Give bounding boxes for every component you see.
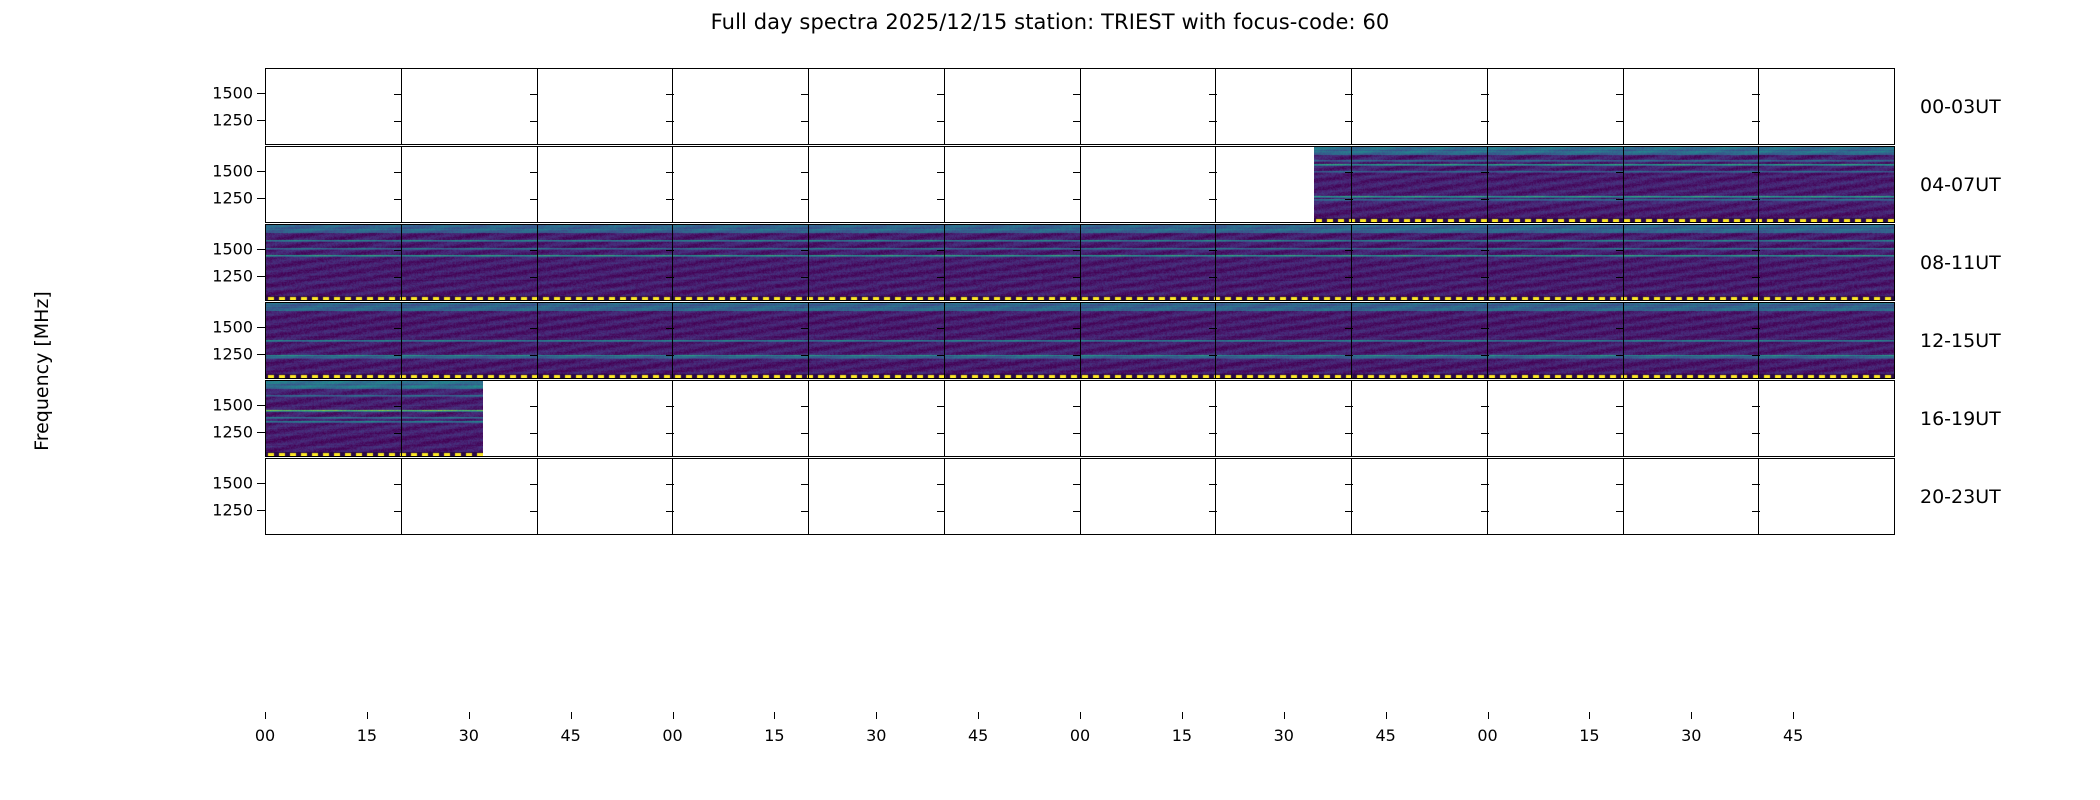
column-separators [266,69,1894,144]
x-tick-mark [1386,712,1387,719]
x-tick-mark [265,712,266,719]
y-tick-mark [1209,433,1217,434]
column-separator [1216,381,1352,456]
y-tick-mark [1073,406,1081,407]
y-tick-mark [1209,172,1217,173]
x-tick-label: 45 [1375,726,1395,745]
y-tick-mark [1616,406,1624,407]
x-tick-label: 15 [764,726,784,745]
y-tick-marks [266,459,1894,534]
column-separator [266,69,402,144]
column-separator [1081,381,1217,456]
y-tick-mark [394,172,402,173]
column-separator [1624,381,1760,456]
spectrogram-data-12-15ut [266,303,1895,378]
y-tick-mark [1752,511,1760,512]
column-separator [1352,69,1488,144]
x-tick-mark [1793,712,1794,719]
column-separator [945,69,1081,144]
y-tick-mark [530,94,538,95]
x-tick-label: 15 [1172,726,1192,745]
x-tick-label: 45 [968,726,988,745]
x-tick-label: 45 [1783,726,1803,745]
column-separator [1624,69,1760,144]
y-tick-marks [266,381,1894,456]
spectrogram-row-08-11ut[interactable] [265,224,1895,301]
y-tick-mark [1209,94,1217,95]
spectrogram-row-00-03ut[interactable] [265,68,1895,145]
column-separators [266,381,1894,456]
y-tick-label: 1250 [212,111,253,130]
y-tick-mark [937,511,945,512]
spectrogram-row-04-07ut[interactable] [265,146,1895,223]
y-tick-mark-outer [257,405,265,406]
x-tick-label: 30 [1681,726,1701,745]
y-tick-mark [801,172,809,173]
column-separator [266,147,402,222]
y-tick-mark [1073,94,1081,95]
y-tick-mark [1345,484,1353,485]
y-tick-mark [1209,511,1217,512]
y-tick-mark [666,172,674,173]
y-tick-mark [1209,484,1217,485]
spectrogram-row-12-15ut[interactable] [265,302,1895,379]
y-tick-mark [1073,199,1081,200]
y-tick-mark [1209,406,1217,407]
y-tick-mark [1616,511,1624,512]
x-tick-label: 00 [255,726,275,745]
y-tick-mark [1073,121,1081,122]
y-tick-label: 1250 [212,501,253,520]
y-tick-mark [1073,172,1081,173]
y-tick-mark [666,433,674,434]
y-tick-mark [1345,511,1353,512]
y-tick-mark [937,433,945,434]
y-tick-mark [1345,121,1353,122]
y-tick-mark [530,406,538,407]
x-tick-mark [1284,712,1285,719]
y-tick-mark [666,406,674,407]
y-tick-mark [666,94,674,95]
y-tick-mark [801,406,809,407]
spectrogram-row-16-19ut[interactable] [265,380,1895,457]
y-tick-label: 1250 [212,345,253,364]
y-tick-mark-outer [257,249,265,250]
y-tick-mark [394,94,402,95]
y-axis-label: Frequency [MHz] [31,241,53,501]
y-tick-label: 1500 [212,240,253,259]
spectrogram-row-20-23ut[interactable] [265,458,1895,535]
y-tick-mark-outer [257,432,265,433]
y-tick-mark [666,199,674,200]
column-separator [1488,69,1624,144]
y-tick-mark [1616,121,1624,122]
y-tick-mark [1209,121,1217,122]
y-tick-mark [937,172,945,173]
y-tick-mark [1616,484,1624,485]
column-separator [1216,459,1352,534]
spectrogram-data-08-11ut [266,225,1895,300]
row-label-04-07ut: 04-07UT [1920,174,2001,196]
y-tick-mark [530,484,538,485]
row-label-00-03ut: 00-03UT [1920,96,2001,118]
y-tick-mark [1752,406,1760,407]
y-tick-mark [666,511,674,512]
x-tick-mark [367,712,368,719]
y-tick-label: 1500 [212,318,253,337]
x-tick-label: 30 [1274,726,1294,745]
y-tick-mark [1752,121,1760,122]
column-separator [538,69,674,144]
column-separator [1488,459,1624,534]
column-separator [402,69,538,144]
y-tick-label: 1500 [212,162,253,181]
y-tick-mark [801,511,809,512]
column-separators [266,459,1894,534]
x-tick-label: 30 [459,726,479,745]
x-tick-label: 00 [1070,726,1090,745]
y-tick-mark [937,484,945,485]
column-separator [538,381,674,456]
y-tick-mark [1345,94,1353,95]
y-tick-mark [1752,94,1760,95]
y-tick-mark [1481,511,1489,512]
y-tick-mark [666,484,674,485]
column-separator [1081,459,1217,534]
y-tick-mark [530,199,538,200]
y-tick-mark [1481,433,1489,434]
y-tick-mark [394,199,402,200]
x-tick-mark [774,712,775,719]
column-separator [809,147,945,222]
y-tick-mark [937,121,945,122]
column-separator [673,69,809,144]
y-tick-mark [1616,94,1624,95]
column-separator [673,459,809,534]
column-separator [673,147,809,222]
row-label-20-23ut: 20-23UT [1920,486,2001,508]
y-tick-mark [801,433,809,434]
y-tick-mark [1345,406,1353,407]
y-tick-mark-outer [257,198,265,199]
y-tick-mark [1481,406,1489,407]
y-tick-mark [801,484,809,485]
x-tick-mark [571,712,572,719]
x-tick-label: 45 [560,726,580,745]
x-tick-mark [1589,712,1590,719]
y-tick-label: 1500 [212,396,253,415]
column-separator [1081,69,1217,144]
y-tick-mark [1481,121,1489,122]
y-tick-mark [801,94,809,95]
y-tick-mark [1752,433,1760,434]
column-separator [1488,381,1624,456]
spectrogram-data-04-07ut [1314,147,1895,222]
y-tick-mark [937,406,945,407]
x-tick-mark [673,712,674,719]
column-separator [809,381,945,456]
y-tick-mark-outer [257,354,265,355]
column-separator [538,459,674,534]
y-tick-mark [1481,94,1489,95]
y-tick-label: 1250 [212,267,253,286]
column-separator [1759,69,1894,144]
y-tick-mark [801,121,809,122]
x-tick-label: 15 [1579,726,1599,745]
column-separator [1759,459,1894,534]
column-separator [1624,459,1760,534]
column-separator [945,147,1081,222]
x-tick-label: 00 [662,726,682,745]
column-separator [1352,459,1488,534]
spectrogram-figure: Full day spectra 2025/12/15 station: TRI… [0,0,2100,800]
y-tick-mark-outer [257,171,265,172]
y-tick-mark-outer [257,120,265,121]
y-tick-mark [1752,484,1760,485]
y-tick-mark [801,199,809,200]
y-tick-marks [266,69,1894,144]
y-tick-mark [1073,511,1081,512]
x-tick-mark [1182,712,1183,719]
y-tick-label: 1500 [212,84,253,103]
y-tick-label: 1250 [212,189,253,208]
page-title: Full day spectra 2025/12/15 station: TRI… [0,10,2100,34]
column-separator [809,459,945,534]
y-tick-mark-outer [257,276,265,277]
spectrogram-data-16-19ut [266,381,483,456]
x-tick-mark [1488,712,1489,719]
row-label-08-11ut: 08-11UT [1920,252,2001,274]
y-tick-mark [1209,199,1217,200]
column-separator [1081,147,1217,222]
x-tick-mark [876,712,877,719]
x-tick-mark [469,712,470,719]
column-separator [1352,381,1488,456]
x-tick-mark [1691,712,1692,719]
y-tick-mark [1073,484,1081,485]
y-tick-mark [530,433,538,434]
y-tick-mark [530,511,538,512]
y-tick-mark [1073,433,1081,434]
column-separator [945,459,1081,534]
x-tick-mark [978,712,979,719]
y-tick-mark [530,121,538,122]
y-tick-mark [666,121,674,122]
y-tick-mark-outer [257,327,265,328]
y-tick-label: 1250 [212,423,253,442]
column-separator [402,147,538,222]
y-tick-mark [1345,433,1353,434]
y-tick-mark [937,199,945,200]
column-separator [945,381,1081,456]
row-label-16-19ut: 16-19UT [1920,408,2001,430]
y-tick-mark-outer [257,93,265,94]
column-separator [673,381,809,456]
y-tick-mark [937,94,945,95]
x-tick-mark [1080,712,1081,719]
column-separator [266,459,402,534]
column-separator [1216,69,1352,144]
row-label-12-15ut: 12-15UT [1920,330,2001,352]
y-tick-mark [394,121,402,122]
y-tick-mark [530,172,538,173]
x-tick-label: 15 [357,726,377,745]
y-tick-mark [1481,484,1489,485]
column-separator [538,147,674,222]
y-tick-mark-outer [257,483,265,484]
column-separator [402,459,538,534]
y-tick-mark [1616,433,1624,434]
y-tick-mark [394,484,402,485]
column-separator [809,69,945,144]
y-tick-mark-outer [257,510,265,511]
y-tick-label: 1500 [212,474,253,493]
x-tick-label: 00 [1477,726,1497,745]
x-tick-label: 30 [866,726,886,745]
column-separator [1759,381,1894,456]
y-tick-mark [394,511,402,512]
